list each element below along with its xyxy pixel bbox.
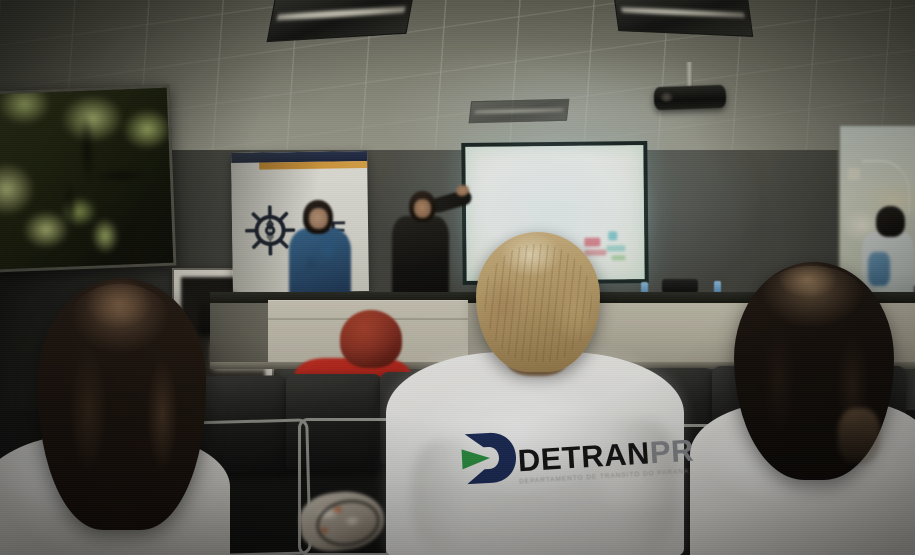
window-highlight-square (848, 168, 860, 180)
slide-graphic-green (611, 255, 625, 260)
attendee-red-head (340, 310, 402, 368)
slide-graphic-teal (606, 245, 625, 251)
presenter-woman-face (309, 208, 328, 229)
presenter-man-body (392, 216, 449, 300)
presenter-man-face (414, 199, 431, 218)
attendee-fg-left-hair-highlight (70, 284, 170, 354)
slide-graphic-teal (608, 231, 617, 240)
auditorium-photo: DE (0, 0, 915, 555)
ceiling-light-fixture (469, 99, 570, 124)
pr-text: PR (649, 433, 695, 471)
aerial-nature-photograph-frame (0, 85, 176, 273)
attendee-fg-right-hair-strand (838, 408, 880, 464)
detran-d-arrow-logo (458, 427, 519, 490)
slide-graphic-red (584, 238, 600, 247)
slide-graphic-red (584, 249, 606, 255)
presenter-woman-body (289, 228, 351, 300)
projector-lens (660, 92, 673, 102)
river-shape (2, 102, 168, 258)
standing-person-shirt (868, 252, 890, 286)
attendee-fg-right-hair-highlight (760, 266, 864, 328)
attendee-fg-center-hair-strands (484, 244, 592, 362)
standing-person-head (876, 206, 905, 237)
desk-equipment-box (662, 279, 698, 293)
